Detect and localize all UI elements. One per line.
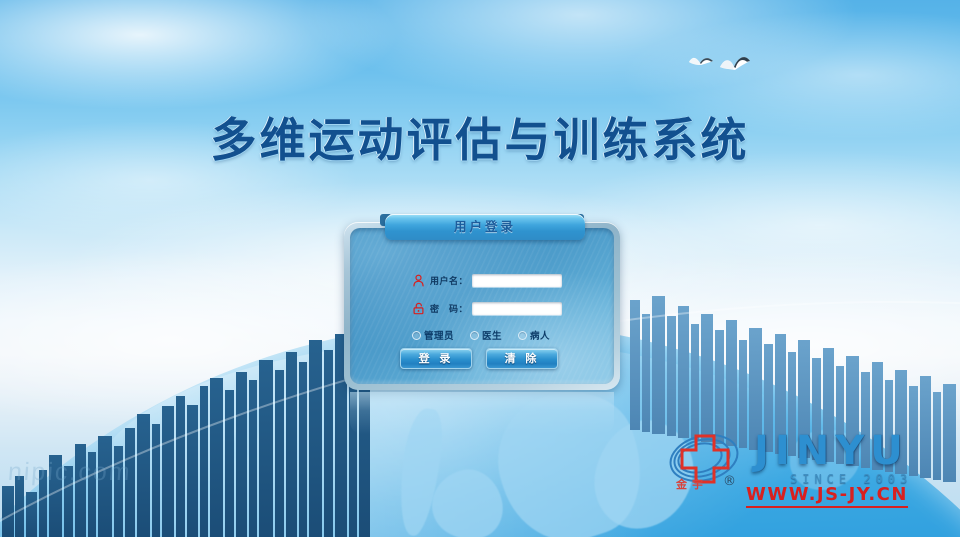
brand-logo: JINYU SINCE 2003 金宇 ® WWW.JS-JY.CN <box>668 428 956 506</box>
radio-icon[interactable] <box>412 331 421 340</box>
login-screen: nipic.com 多维运动评估与训练系统 用户登录 用户名： <box>0 0 960 537</box>
user-icon <box>412 274 425 287</box>
login-panel-reflection <box>350 392 614 434</box>
logo-wordmark: JINYU <box>754 431 909 471</box>
continent-shape <box>227 402 266 466</box>
seagull-icon <box>718 50 752 76</box>
page-title: 多维运动评估与训练系统 <box>0 104 960 170</box>
logo-website-url[interactable]: WWW.JS-JY.CN <box>746 485 908 508</box>
login-panel-title: 用户登录 <box>385 214 585 240</box>
password-row: 密 码： <box>412 300 562 316</box>
registered-trademark-icon: ® <box>723 474 736 489</box>
password-input[interactable] <box>472 302 562 315</box>
radio-icon[interactable] <box>470 331 479 340</box>
login-button[interactable]: 登 录 <box>400 348 472 369</box>
password-label: 密 码： <box>430 302 468 315</box>
cloud-icon <box>300 0 860 100</box>
continent-shape <box>425 463 508 537</box>
radio-icon[interactable] <box>518 331 527 340</box>
continent-shape <box>393 406 446 537</box>
cloud-icon <box>0 0 400 110</box>
login-form: 用户名： 密 码： 管理员 <box>350 248 614 376</box>
logo-chinese-name: 金宇 <box>676 476 708 492</box>
role-option-patient[interactable]: 病人 <box>518 328 550 342</box>
role-selector: 管理员 医生 病人 <box>412 328 550 342</box>
role-label-admin: 管理员 <box>424 328 454 342</box>
clear-button[interactable]: 清 除 <box>486 348 558 369</box>
continent-shape <box>170 480 230 537</box>
login-actions: 登 录 清 除 <box>400 348 558 369</box>
username-input[interactable] <box>472 274 562 287</box>
role-option-doctor[interactable]: 医生 <box>470 328 502 342</box>
continent-shape <box>481 374 660 537</box>
username-row: 用户名： <box>412 272 562 288</box>
seagull-icon <box>688 52 714 72</box>
username-label: 用户名： <box>430 274 468 287</box>
role-label-doctor: 医生 <box>482 328 502 342</box>
background-watermark: nipic.com <box>7 458 133 487</box>
role-option-admin[interactable]: 管理员 <box>412 328 454 342</box>
lock-icon <box>412 302 425 315</box>
role-label-patient: 病人 <box>530 328 550 342</box>
login-panel: 用户登录 用户名： 密 码： <box>344 214 620 390</box>
